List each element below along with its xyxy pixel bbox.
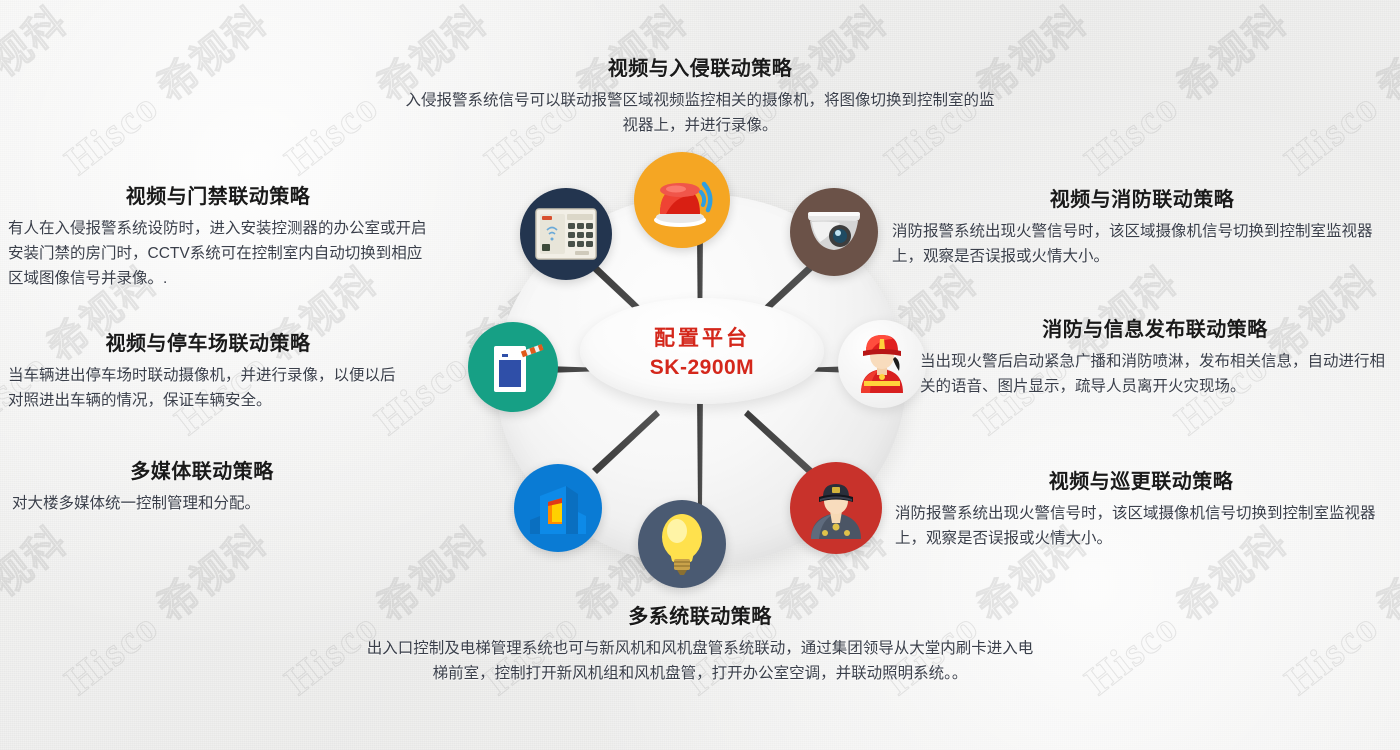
block-video-parking: 视频与停车场联动策略 当车辆进出停车场时联动摄像机，并进行录像，以便以后对照进出… — [8, 327, 408, 413]
block-video-intrusion: 视频与入侵联动策略 入侵报警系统信号可以联动报警区域视频监控相关的摄像机，将图像… — [400, 52, 1000, 138]
central-hub: 配置平台 SK-2900M — [468, 152, 932, 588]
block-title: 视频与门禁联动策略 — [8, 180, 428, 209]
watermark-text: Hisco 希视科 — [0, 510, 78, 706]
block-title: 视频与消防联动策略 — [892, 183, 1392, 212]
block-multimedia: 多媒体联动策略 对大楼多媒体统一控制管理和分配。 — [12, 455, 392, 516]
block-body: 消防报警系统出现火警信号时，该区域摄像机信号切换到控制室监视器上，观察是否误报或… — [892, 219, 1392, 269]
node-building-multimedia[interactable] — [514, 464, 602, 552]
security-guard-icon — [803, 475, 869, 541]
watermark-text: Hisco 希视科 — [1070, 0, 1298, 186]
block-video-access-control: 视频与门禁联动策略 有人在入侵报警系统设防时，进入安装控测器的办公室或开启安装门… — [8, 180, 428, 291]
watermark-text: Hisco 希视科 — [50, 0, 278, 186]
watermark-text: Hisco 希视科 — [50, 510, 278, 706]
block-body: 对大楼多媒体统一控制管理和分配。 — [12, 491, 392, 516]
center-platform-model: SK-2900M — [650, 356, 754, 380]
center-platform-title: 配置平台 — [654, 322, 750, 352]
dome-camera-icon — [800, 204, 868, 260]
block-title: 视频与入侵联动策略 — [400, 52, 1000, 81]
block-body: 有人在入侵报警系统设防时，进入安装控测器的办公室或开启安装门禁的房门时，CCTV… — [8, 216, 428, 291]
node-security-guard[interactable] — [790, 462, 882, 554]
node-dome-camera[interactable] — [790, 188, 878, 276]
block-title: 视频与巡更联动策略 — [895, 465, 1387, 494]
block-video-fire: 视频与消防联动策略 消防报警系统出现火警信号时，该区域摄像机信号切换到控制室监视… — [892, 183, 1392, 269]
block-body: 出入口控制及电梯管理系统也可与新风机和风机盘管系统联动，通过集团领导从大堂内刷卡… — [360, 636, 1040, 686]
node-firefighter[interactable] — [838, 320, 926, 408]
center-platform-badge: 配置平台 SK-2900M — [580, 298, 824, 404]
parking-barrier-icon — [482, 338, 544, 396]
watermark-text: Hisco 希视科 — [1270, 0, 1400, 186]
node-access-keypad[interactable] — [520, 188, 612, 280]
block-body: 当车辆进出停车场时联动摄像机，并进行录像，以便以后对照进出车辆的情况，保证车辆安… — [8, 363, 408, 413]
building-multimedia-icon — [526, 478, 590, 538]
firefighter-icon — [851, 331, 913, 397]
block-body: 当出现火警后启动紧急广播和消防喷淋，发布相关信息，自动进行相关的语音、图片显示，… — [920, 349, 1390, 399]
block-body: 消防报警系统出现火警信号时，该区域摄像机信号切换到控制室监视器上，观察是否误报或… — [895, 501, 1387, 551]
node-parking-barrier[interactable] — [468, 322, 558, 412]
block-title: 消防与信息发布联动策略 — [920, 313, 1390, 342]
block-video-patrol: 视频与巡更联动策略 消防报警系统出现火警信号时，该区域摄像机信号切换到控制室监视… — [895, 465, 1387, 551]
block-title: 多媒体联动策略 — [12, 455, 392, 484]
node-alarm-siren[interactable] — [634, 152, 730, 248]
block-multi-system: 多系统联动策略 出入口控制及电梯管理系统也可与新风机和风机盘管系统联动，通过集团… — [360, 600, 1040, 686]
watermark-text: Hisco 希视科 — [0, 0, 78, 186]
access-keypad-icon — [533, 206, 599, 262]
alarm-siren-icon — [646, 170, 718, 230]
light-bulb-icon — [654, 511, 710, 577]
node-light-bulb[interactable] — [638, 500, 726, 588]
block-title: 视频与停车场联动策略 — [8, 327, 408, 356]
block-body: 入侵报警系统信号可以联动报警区域视频监控相关的摄像机，将图像切换到控制室的监视器… — [400, 88, 1000, 138]
block-fire-info-release: 消防与信息发布联动策略 当出现火警后启动紧急广播和消防喷淋，发布相关信息，自动进… — [920, 313, 1390, 399]
block-title: 多系统联动策略 — [360, 600, 1040, 629]
